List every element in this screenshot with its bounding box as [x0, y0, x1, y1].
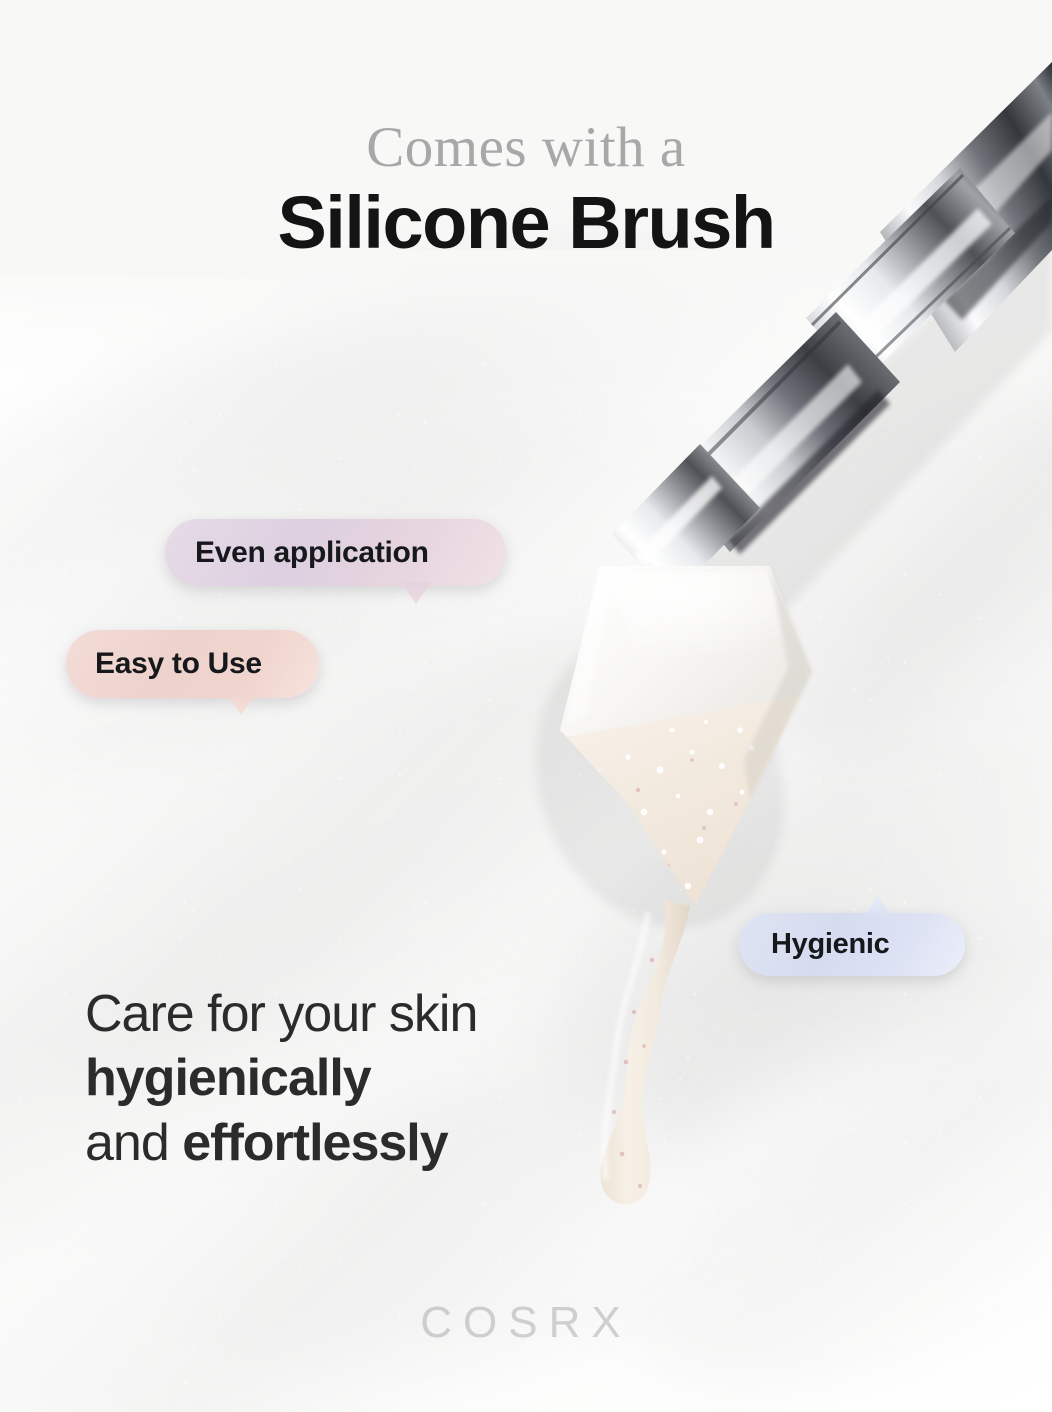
- bottom-copy-block: Care for your skin hygienically and effo…: [85, 982, 477, 1175]
- copy-line-3-prefix: and: [85, 1114, 182, 1172]
- copy-line-1: Care for your skin: [85, 982, 477, 1046]
- copy-line-3-bold: effortlessly: [182, 1114, 447, 1172]
- copy-line-3: and effortlessly: [85, 1111, 477, 1175]
- cream-top-fade: [0, 250, 1052, 380]
- badge-hygienic: Hygienic: [739, 913, 965, 976]
- badge-label: Hygienic: [771, 928, 889, 961]
- headline: Comes with a Silicone Brush: [0, 118, 1052, 262]
- cosrx-watermark: COSRX: [0, 1298, 1052, 1348]
- copy-line-2: hygienically: [85, 1046, 477, 1110]
- badge-even-application: Even application: [165, 519, 506, 586]
- headline-line-2: Silicone Brush: [0, 184, 1052, 262]
- headline-line-1: Comes with a: [0, 118, 1052, 178]
- badge-label: Even application: [195, 536, 429, 570]
- product-promo-poster: Comes with a Silicone Brush Even applica…: [0, 0, 1052, 1412]
- cream-sparkle-texture: [0, 276, 1052, 1412]
- badge-label: Easy to Use: [95, 647, 262, 681]
- badge-easy-to-use: Easy to Use: [66, 630, 319, 698]
